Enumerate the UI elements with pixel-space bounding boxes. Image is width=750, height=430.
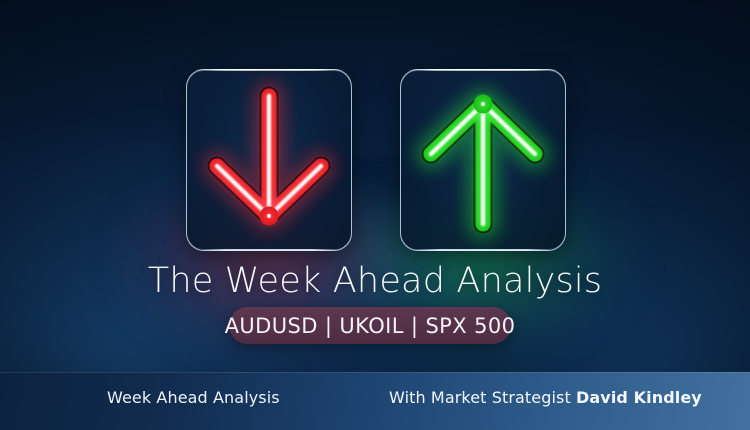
background-vignette xyxy=(0,0,750,430)
footer-bar: Week Ahead Analysis With Market Strategi… xyxy=(0,372,750,430)
neon-up-arrow-icon xyxy=(401,70,565,250)
bearish-icon-frame xyxy=(186,69,352,251)
instruments-badge-label: AUDUSD | UKOIL | SPX 500 xyxy=(225,314,516,338)
footer-series-label: Week Ahead Analysis xyxy=(107,388,280,407)
footer-presenter: With Market Strategist David Kindley xyxy=(389,388,702,407)
footer-presenter-name: David Kindley xyxy=(576,388,702,407)
instruments-badge: AUDUSD | UKOIL | SPX 500 xyxy=(229,307,511,344)
footer-presenter-prefix: With Market Strategist xyxy=(389,388,576,407)
bullish-icon-frame xyxy=(400,69,566,251)
promo-banner: The Week Ahead Analysis AUDUSD | UKOIL |… xyxy=(0,0,750,430)
neon-down-arrow-icon xyxy=(187,70,351,250)
page-title: The Week Ahead Analysis xyxy=(0,261,750,301)
